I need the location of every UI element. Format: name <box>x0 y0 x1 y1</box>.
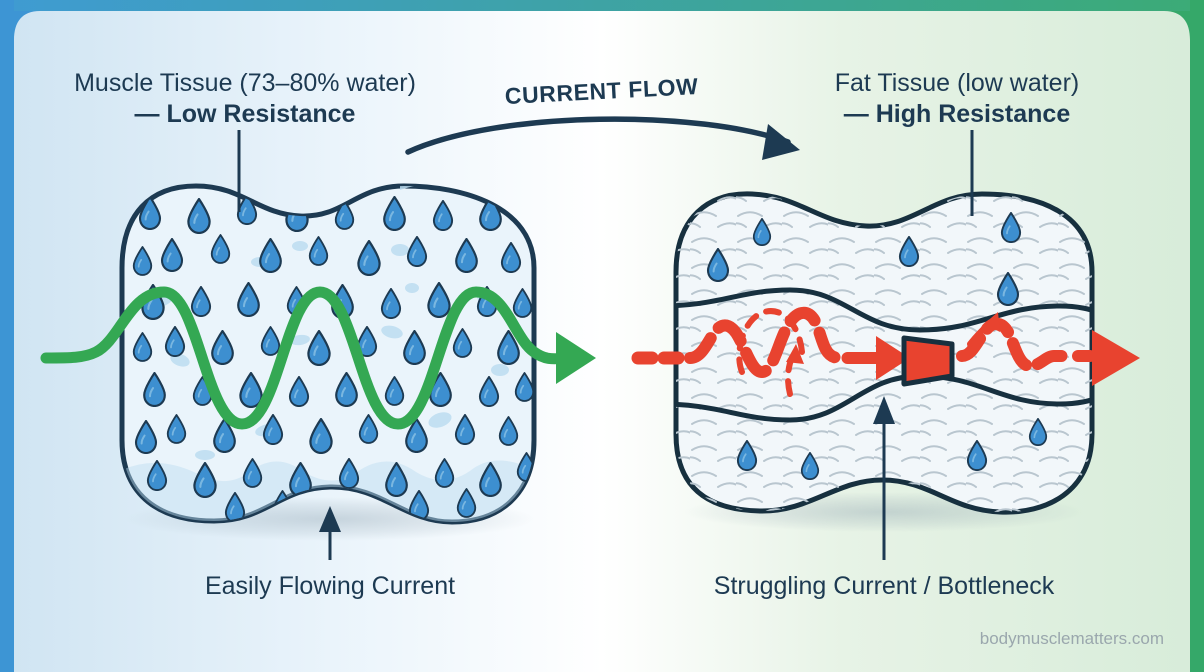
muscle-caption: Easily Flowing Current <box>205 572 455 600</box>
muscle-tissue-body <box>122 174 537 532</box>
infographic-canvas: CURRENT FLOW <box>0 0 1204 672</box>
fat-tissue-group <box>638 180 1140 532</box>
watermark: bodymusclematters.com <box>980 629 1164 648</box>
fat-title-line1: Fat Tissue (low water) <box>835 69 1080 97</box>
bottleneck-blockage <box>904 338 952 384</box>
fat-title-line2: — High Resistance <box>844 100 1071 128</box>
fat-caption: Struggling Current / Bottleneck <box>714 572 1055 600</box>
muscle-title-line1: Muscle Tissue (73–80% water) <box>74 69 416 97</box>
muscle-title-line2: — Low Resistance <box>135 100 356 128</box>
